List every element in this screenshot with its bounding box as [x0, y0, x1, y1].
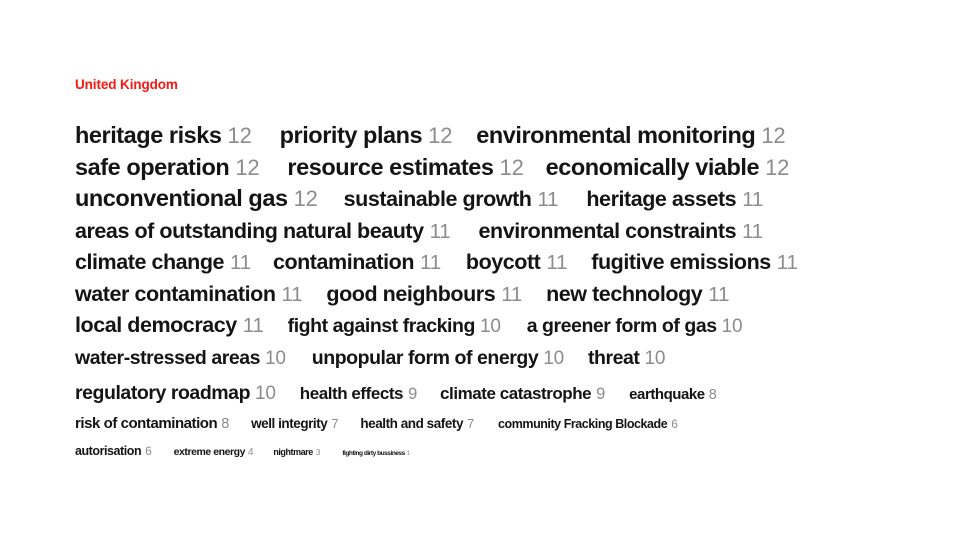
cloud-term-item[interactable]: climate change11 — [75, 247, 251, 279]
cloud-row: safe operation12resource estimates12econ… — [75, 152, 895, 184]
term-count: 6 — [145, 438, 151, 464]
term-count: 10 — [480, 312, 501, 343]
term-label: fighting dirty bussiness — [342, 442, 405, 466]
term-label: health and safety — [360, 411, 463, 437]
term-label: resource estimates — [287, 152, 493, 183]
term-label: economically viable — [546, 152, 760, 183]
term-label: autorisation — [75, 438, 141, 464]
cloud-term-item[interactable]: environmental constraints11 — [479, 216, 763, 248]
term-count: 12 — [765, 153, 789, 184]
term-count: 8 — [221, 410, 229, 438]
term-label: a greener form of gas — [527, 311, 717, 342]
term-label: extreme energy — [174, 440, 245, 464]
term-label: unconventional gas — [75, 183, 288, 214]
cloud-term-item[interactable]: environmental monitoring12 — [476, 120, 785, 152]
cloud-term-item[interactable]: community Fracking Blockade6 — [498, 411, 678, 437]
cloud-term-item[interactable]: resource estimates12 — [287, 152, 523, 184]
term-label: nightmare — [273, 440, 312, 464]
term-label: heritage risks — [75, 120, 222, 151]
term-label: fight against fracking — [288, 311, 475, 342]
term-label: health effects — [300, 380, 403, 408]
term-count: 10 — [543, 344, 564, 375]
term-label: sustainable growth — [344, 184, 532, 215]
cloud-term-item[interactable]: autorisation6 — [75, 438, 152, 464]
term-count: 10 — [722, 312, 743, 343]
term-count: 4 — [248, 441, 253, 465]
term-count: 11 — [430, 217, 451, 248]
term-count: 7 — [331, 411, 338, 437]
cloud-term-item[interactable]: priority plans12 — [280, 120, 453, 152]
term-label: unpopular form of energy — [312, 343, 538, 374]
cloud-row: local democracy11fight against fracking1… — [75, 310, 895, 343]
cloud-term-item[interactable]: economically viable12 — [546, 152, 790, 184]
term-count: 11 — [243, 311, 264, 342]
page-title: United Kingdom — [75, 78, 178, 92]
cloud-term-item[interactable]: new technology11 — [546, 279, 729, 311]
term-label: community Fracking Blockade — [498, 411, 667, 437]
cloud-term-item[interactable]: extreme energy4 — [174, 440, 254, 465]
term-count: 11 — [537, 185, 558, 216]
term-label: threat — [588, 343, 639, 374]
term-label: heritage assets — [586, 184, 736, 215]
term-label: climate catastrophe — [440, 380, 591, 408]
term-count: 11 — [546, 248, 567, 279]
cloud-term-item[interactable]: regulatory roadmap10 — [75, 378, 276, 410]
cloud-row: unconventional gas12sustainable growth11… — [75, 183, 895, 216]
term-count: 11 — [230, 248, 251, 279]
term-count: 8 — [709, 381, 717, 409]
term-count: 3 — [316, 440, 321, 464]
cloud-row: areas of outstanding natural beauty11env… — [75, 216, 895, 248]
term-label: earthquake — [629, 381, 705, 409]
term-label: good neighbours — [326, 279, 495, 310]
cloud-row: risk of contamination8well integrity7hea… — [75, 410, 895, 438]
cloud-row: climate change11contamination11boycott11… — [75, 247, 895, 279]
cloud-term-item[interactable]: earthquake8 — [629, 381, 716, 409]
title-block: United Kingdom — [75, 78, 178, 92]
cloud-term-item[interactable]: threat10 — [588, 343, 665, 375]
term-count: 12 — [228, 121, 252, 152]
term-count: 12 — [235, 153, 259, 184]
term-label: local democracy — [75, 310, 237, 341]
term-count: 7 — [467, 411, 474, 437]
term-count: 11 — [742, 217, 763, 248]
term-count: 11 — [282, 280, 303, 311]
cloud-term-item[interactable]: health and safety7 — [360, 411, 474, 437]
term-label: well integrity — [251, 411, 327, 437]
cloud-row: heritage risks12priority plans12environm… — [75, 120, 895, 152]
term-count: 9 — [408, 380, 417, 408]
term-label: boycott — [466, 247, 540, 278]
cloud-term-item[interactable]: fugitive emissions11 — [591, 247, 797, 279]
cloud-term-item[interactable]: well integrity7 — [251, 411, 338, 437]
term-count: 9 — [596, 380, 605, 408]
term-label: climate change — [75, 247, 224, 278]
term-count: 11 — [742, 185, 763, 216]
term-count: 10 — [265, 344, 286, 375]
term-frequency-cloud: heritage risks12priority plans12environm… — [75, 120, 895, 466]
term-count: 10 — [255, 379, 276, 410]
cloud-term-item[interactable]: contamination11 — [273, 247, 441, 279]
cloud-term-item[interactable]: safe operation12 — [75, 152, 259, 184]
term-label: contamination — [273, 247, 414, 278]
term-count: 12 — [428, 121, 452, 152]
cloud-term-item[interactable]: climate catastrophe9 — [440, 380, 605, 408]
term-count: 10 — [644, 344, 665, 375]
cloud-term-item[interactable]: nightmare3 — [273, 440, 320, 464]
cloud-term-item[interactable]: a greener form of gas10 — [527, 311, 743, 343]
cloud-row: regulatory roadmap10health effects9clima… — [75, 378, 895, 410]
cloud-term-item[interactable]: good neighbours11 — [326, 279, 522, 311]
term-label: safe operation — [75, 152, 229, 183]
term-label: water-stressed areas — [75, 343, 260, 374]
cloud-term-item[interactable]: areas of outstanding natural beauty11 — [75, 216, 451, 248]
cloud-term-item[interactable]: unconventional gas12 — [75, 183, 318, 215]
term-count: 11 — [777, 248, 798, 279]
term-count: 11 — [501, 280, 522, 311]
cloud-term-item[interactable]: health effects9 — [300, 380, 417, 408]
cloud-row: water contamination11good neighbours11ne… — [75, 279, 895, 311]
cloud-term-item[interactable]: sustainable growth11 — [344, 184, 559, 216]
term-label: areas of outstanding natural beauty — [75, 216, 424, 247]
cloud-term-item[interactable]: water-stressed areas10 — [75, 343, 286, 375]
term-count: 11 — [708, 280, 729, 311]
cloud-term-item[interactable]: water contamination11 — [75, 279, 302, 311]
term-label: environmental monitoring — [476, 120, 755, 151]
term-label: water contamination — [75, 279, 276, 310]
term-count: 1 — [407, 442, 410, 466]
term-count: 6 — [671, 411, 677, 437]
term-count: 12 — [500, 153, 524, 184]
term-label: new technology — [546, 279, 702, 310]
cloud-row: autorisation6extreme energy4nightmare3fi… — [75, 438, 895, 466]
term-label: fugitive emissions — [591, 247, 770, 278]
term-count: 12 — [761, 121, 785, 152]
term-label: environmental constraints — [479, 216, 737, 247]
cloud-term-item[interactable]: local democracy11 — [75, 310, 264, 342]
term-label: regulatory roadmap — [75, 378, 250, 409]
cloud-term-item[interactable]: boycott11 — [466, 247, 567, 279]
cloud-term-item[interactable]: fighting dirty bussiness1 — [342, 442, 410, 466]
term-label: risk of contamination — [75, 410, 217, 438]
term-count: 11 — [420, 248, 441, 279]
cloud-term-item[interactable]: heritage risks12 — [75, 120, 252, 152]
term-count: 12 — [294, 184, 318, 215]
cloud-term-item[interactable]: fight against fracking10 — [288, 311, 501, 343]
cloud-term-item[interactable]: unpopular form of energy10 — [312, 343, 564, 375]
word-cloud-canvas: United Kingdom heritage risks12priority … — [0, 0, 960, 540]
cloud-term-item[interactable]: risk of contamination8 — [75, 410, 229, 438]
term-label: priority plans — [280, 120, 423, 151]
cloud-row: water-stressed areas10unpopular form of … — [75, 343, 895, 375]
cloud-term-item[interactable]: heritage assets11 — [586, 184, 763, 216]
